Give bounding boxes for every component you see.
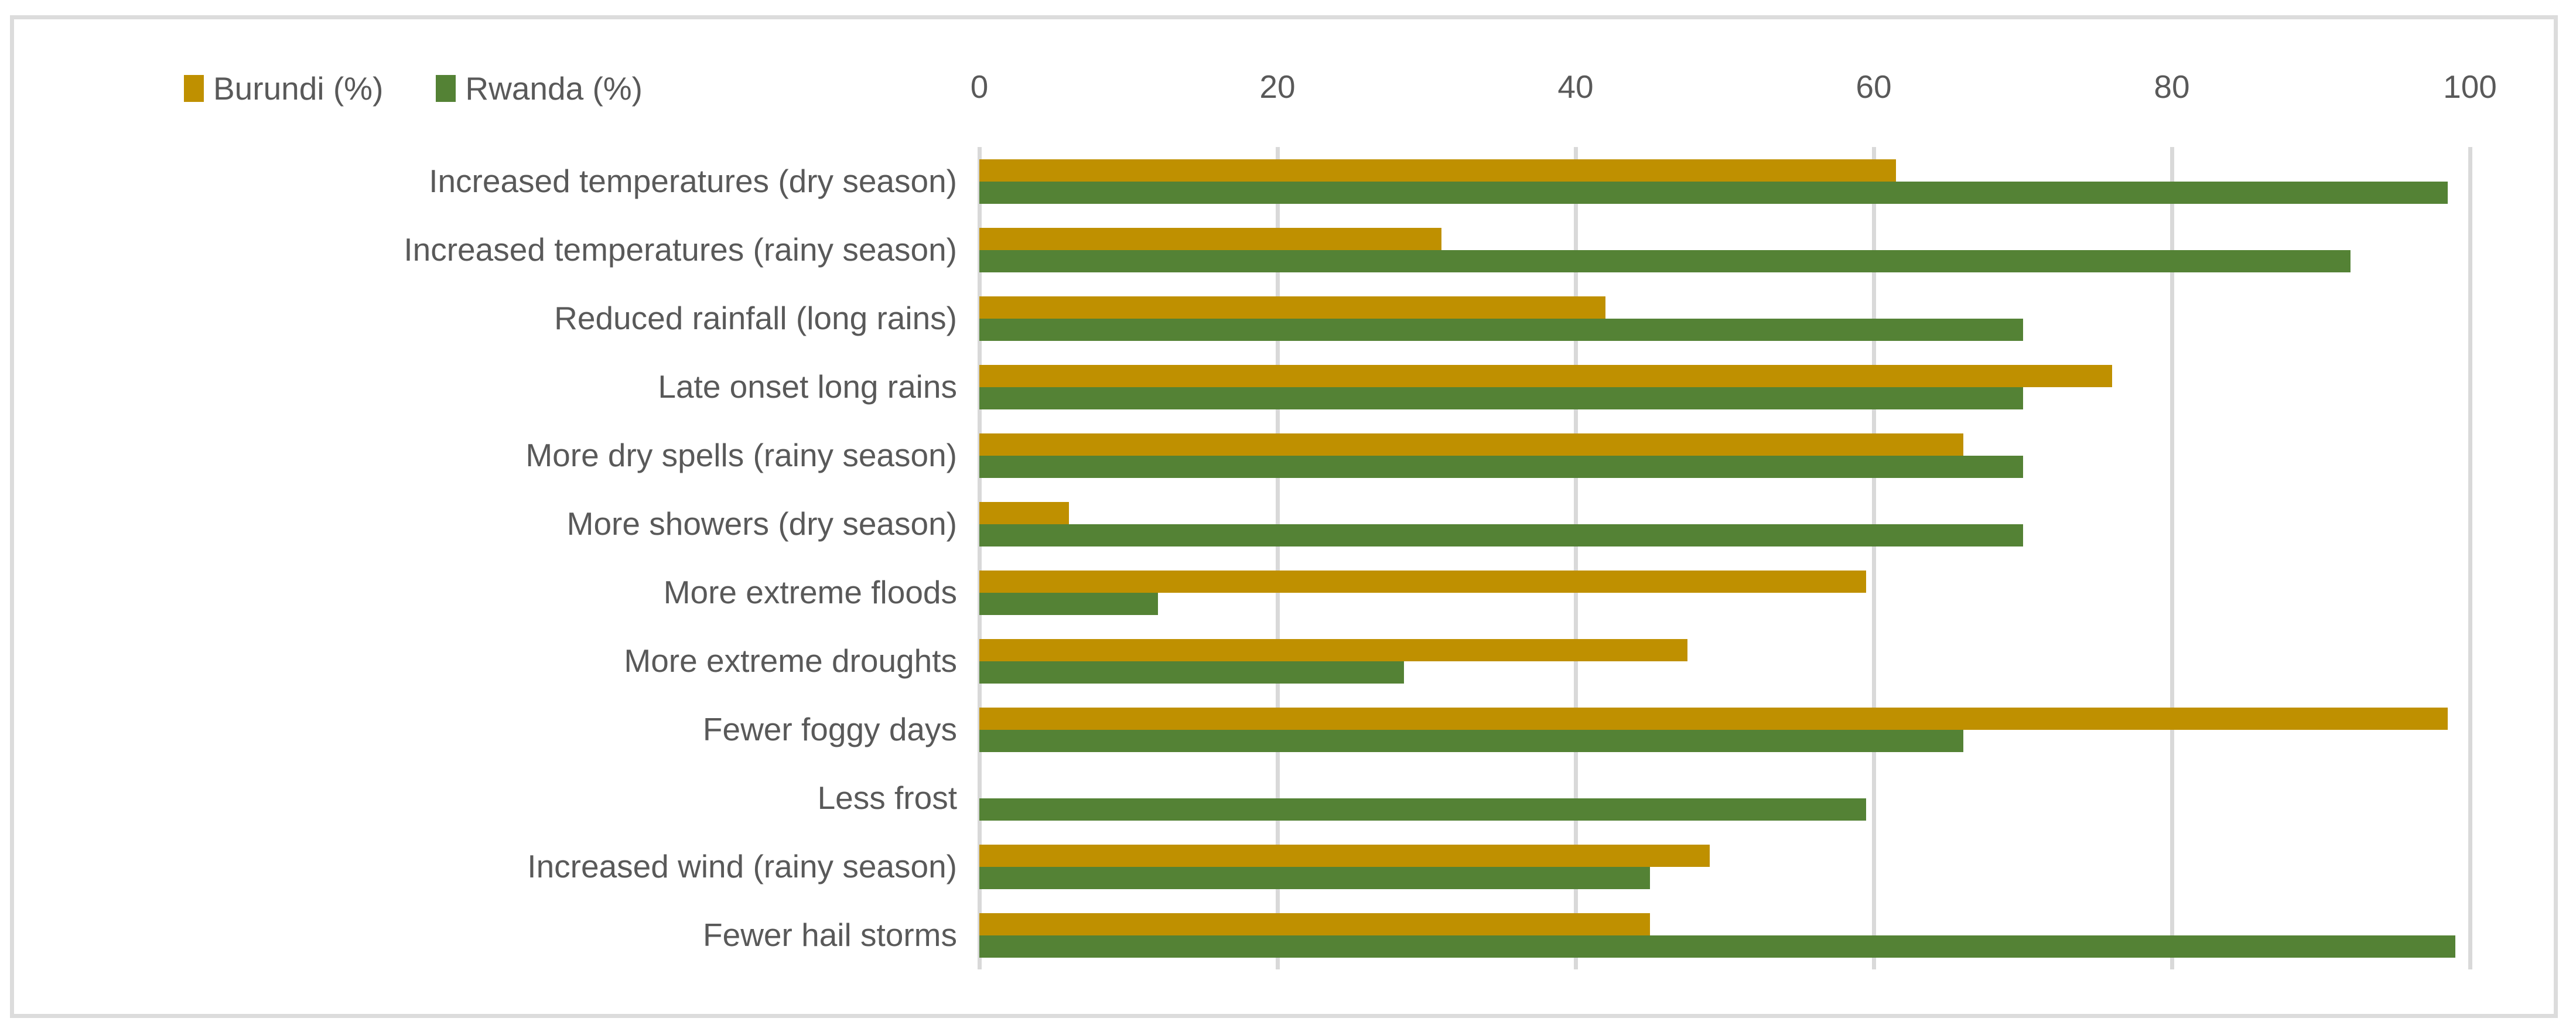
bar-rwanda[interactable] [979,661,1404,684]
chart-row: More extreme floods [14,558,2562,627]
category-label: More extreme floods [78,576,957,609]
bar-group [979,365,2470,409]
x-tick-label-60: 60 [1856,71,1891,103]
legend-label-burundi: Burundi (%) [213,73,383,105]
x-axis-tick-labels: 020406080100 [979,71,2470,112]
x-tick-label-100: 100 [2443,71,2497,103]
category-label: Late onset long rains [78,371,957,403]
bar-group [979,708,2470,752]
bar-rwanda[interactable] [979,182,2448,204]
x-tick-label-20: 20 [1259,71,1295,103]
bar-rwanda[interactable] [979,935,2455,958]
bar-group [979,228,2470,272]
chart-row: Less frost [14,764,2562,832]
category-label: Increased wind (rainy season) [78,850,957,883]
bar-rwanda[interactable] [979,593,1158,615]
legend-swatch-burundi [184,75,204,102]
bar-burundi[interactable] [979,228,1441,250]
chart-row: More showers (dry season) [14,490,2562,558]
x-tick-label-40: 40 [1557,71,1593,103]
chart-row: Late onset long rains [14,353,2562,421]
chart-frame: Burundi (%) Rwanda (%) 020406080100 Incr… [10,15,2558,1018]
bar-burundi[interactable] [979,913,1650,935]
bar-group [979,433,2470,478]
bar-rwanda[interactable] [979,319,2023,341]
legend-entry-burundi[interactable]: Burundi (%) [184,73,383,105]
bar-burundi[interactable] [979,433,1963,456]
bar-rwanda[interactable] [979,250,2350,272]
bar-burundi[interactable] [979,571,1866,593]
category-label: More dry spells (rainy season) [78,439,957,472]
bar-burundi[interactable] [979,296,1605,319]
bar-group [979,159,2470,204]
chart-row: More extreme droughts [14,627,2562,695]
bar-burundi[interactable] [979,159,1896,182]
category-label: Fewer foggy days [78,713,957,746]
bar-rwanda[interactable] [979,798,1866,821]
category-label: Increased temperatures (rainy season) [78,234,957,266]
category-label: Less frost [78,782,957,814]
category-label: More extreme droughts [78,645,957,677]
bar-burundi[interactable] [979,845,1710,867]
bar-rwanda[interactable] [979,524,2023,546]
chart-row: Fewer hail storms [14,901,2562,969]
chart-row: More dry spells (rainy season) [14,421,2562,490]
category-label: Fewer hail storms [78,919,957,951]
bar-group [979,913,2470,958]
bar-rwanda[interactable] [979,867,1650,889]
category-label: More showers (dry season) [78,508,957,540]
x-tick-label-0: 0 [971,71,989,103]
chart-row: Increased wind (rainy season) [14,832,2562,901]
category-label: Increased temperatures (dry season) [78,165,957,197]
legend-entry-rwanda[interactable]: Rwanda (%) [436,73,643,105]
bar-group [979,296,2470,341]
bar-group [979,502,2470,546]
legend-swatch-rwanda [436,75,456,102]
chart-row: Fewer foggy days [14,695,2562,764]
chart-row: Reduced rainfall (long rains) [14,284,2562,353]
bar-group [979,571,2470,615]
chart-row: Increased temperatures (dry season) [14,147,2562,216]
bar-rwanda[interactable] [979,456,2023,478]
x-tick-label-80: 80 [2154,71,2189,103]
chart-row: Increased temperatures (rainy season) [14,216,2562,284]
bar-group [979,639,2470,684]
bar-burundi[interactable] [979,639,1687,661]
bar-rwanda[interactable] [979,730,1963,752]
bar-burundi[interactable] [979,708,2448,730]
legend-label-rwanda: Rwanda (%) [465,73,643,105]
bar-rwanda[interactable] [979,387,2023,409]
chart-rows: Increased temperatures (dry season)Incre… [14,147,2562,969]
chart-legend: Burundi (%) Rwanda (%) [184,71,643,106]
category-label: Reduced rainfall (long rains) [78,302,957,334]
bar-burundi[interactable] [979,502,1069,524]
bar-group [979,845,2470,889]
bar-group [979,776,2470,821]
bar-burundi[interactable] [979,365,2112,387]
